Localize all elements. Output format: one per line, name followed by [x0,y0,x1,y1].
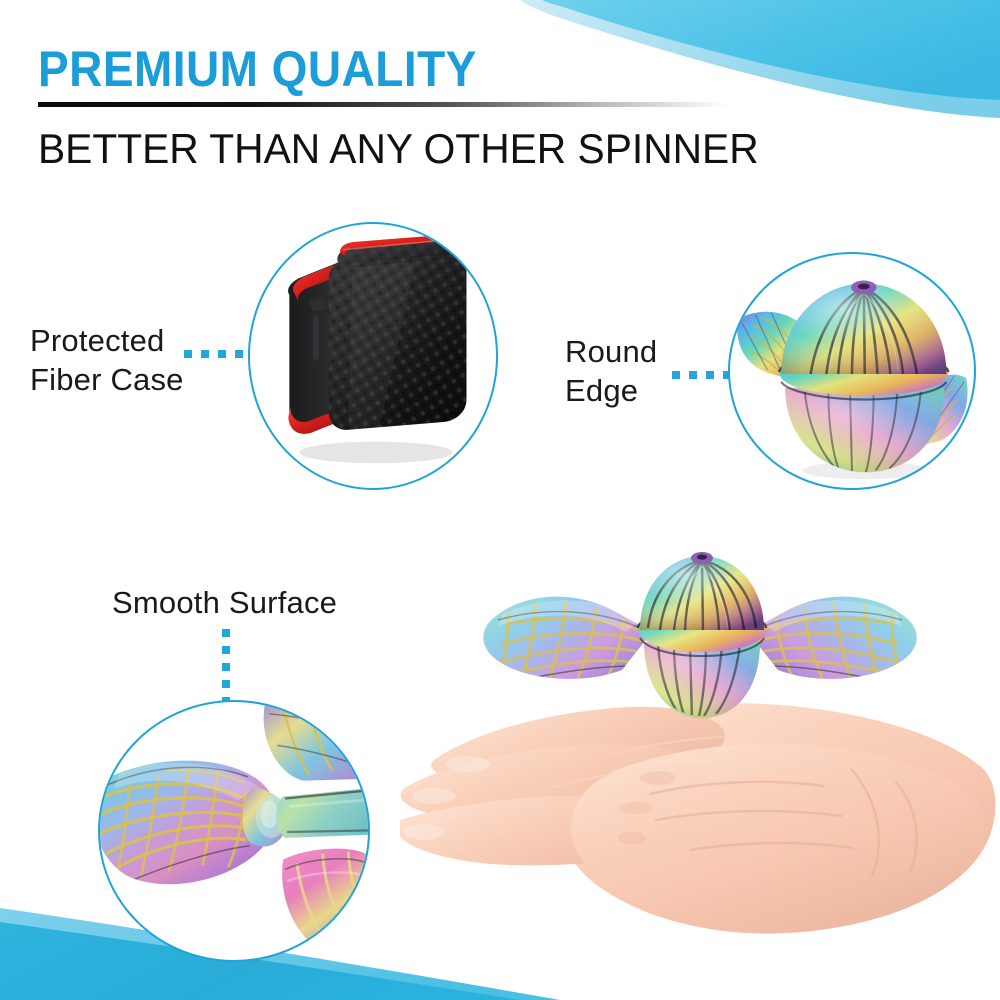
page-title: PREMIUM QUALITY [38,40,477,98]
feature-image-round-edge [728,252,976,490]
top-right-swoosh [542,0,1000,100]
wing-upper-stub [264,702,368,781]
hero-hand-with-spinner [400,520,1000,970]
rainbow-wing-detail-illustration [100,702,368,960]
feature-label-smooth-surface: Smooth Surface [112,584,337,623]
page-subtitle: BETTER THAN ANY OTHER SPINNER [38,125,759,173]
feature-label-round-edge: Round Edge [565,333,657,411]
carbon-fiber-case-illustration [250,224,496,488]
infographic-canvas: PREMIUM QUALITY BETTER THAN ANY OTHER SP… [0,0,1000,1000]
open-palm [400,703,996,933]
title-divider-rule [38,102,728,107]
top-right-accent-band [520,0,1000,118]
rainbow-spinner-dome-illustration [730,254,974,488]
feature-label-protected-fiber-case: Protected Fiber Case [30,322,184,400]
feature-image-smooth-surface [98,700,370,962]
feature-image-protected-fiber-case [248,222,498,490]
rainbow-winged-spinner [483,552,916,720]
